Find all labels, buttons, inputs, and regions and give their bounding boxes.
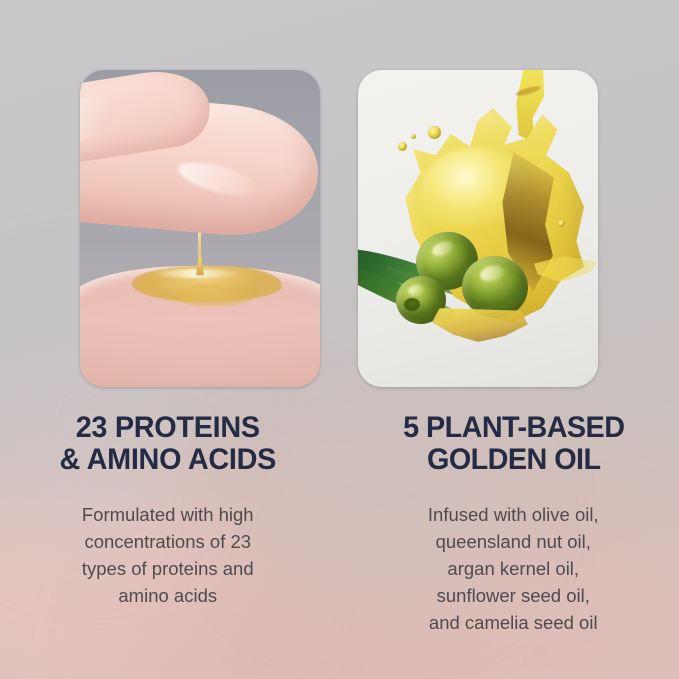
serum-pool-highlight [150,269,242,278]
olive-pit-cavity [404,298,420,311]
feature-body-proteins: Formulated with highconcentrations of 23… [38,501,298,609]
feature-body-golden-oil: Infused with olive oil,queensland nut oi… [384,501,644,636]
serum-drip-image-card [80,70,320,387]
oil-droplet [411,134,416,139]
skin-shadow [80,320,320,387]
body-line: concentrations of 23 [84,531,251,552]
feature-headline-proteins: 23 PROTEINS& AMINO ACIDS [43,412,292,477]
headline-line: GOLDEN OIL [427,443,600,476]
body-line: Formulated with high [82,504,254,525]
feature-text-row: 23 PROTEINS& AMINO ACIDS Formulated with… [0,412,679,636]
headline-line: & AMINO ACIDS [59,443,276,476]
serum-drip-photo [80,70,320,387]
feature-headline-golden-oil: 5 PLANT-BASEDGOLDEN OIL [389,412,638,477]
fingernail [80,87,121,150]
oil-lower-pool [432,308,528,342]
headline-line: 23 PROTEINS [76,411,260,444]
headline-line: 5 PLANT-BASED [403,411,624,444]
product-feature-poster: 23 PROTEINS& AMINO ACIDS Formulated with… [0,0,679,679]
body-line: sunflower seed oil, [437,585,590,606]
body-line: Infused with olive oil, [428,504,599,525]
body-line: types of proteins and [82,558,254,579]
oil-droplet [398,142,407,151]
feature-column-proteins: 23 PROTEINS& AMINO ACIDS Formulated with… [0,412,340,636]
serum-pool-runoff [176,284,256,306]
fingertip-highlight [175,156,261,202]
oil-droplet [558,220,565,227]
olive-oil-splash-photo [358,70,598,387]
image-card-row [0,0,679,400]
oil-droplet [428,126,441,139]
body-line: queensland nut oil, [436,531,591,552]
body-line: and camelia seed oil [429,612,598,633]
olive-oil-image-card [358,70,598,387]
feature-column-golden-oil: 5 PLANT-BASEDGOLDEN OIL Infused with oli… [340,412,679,636]
body-line: argan kernel oil, [447,558,579,579]
body-line: amino acids [118,585,217,606]
